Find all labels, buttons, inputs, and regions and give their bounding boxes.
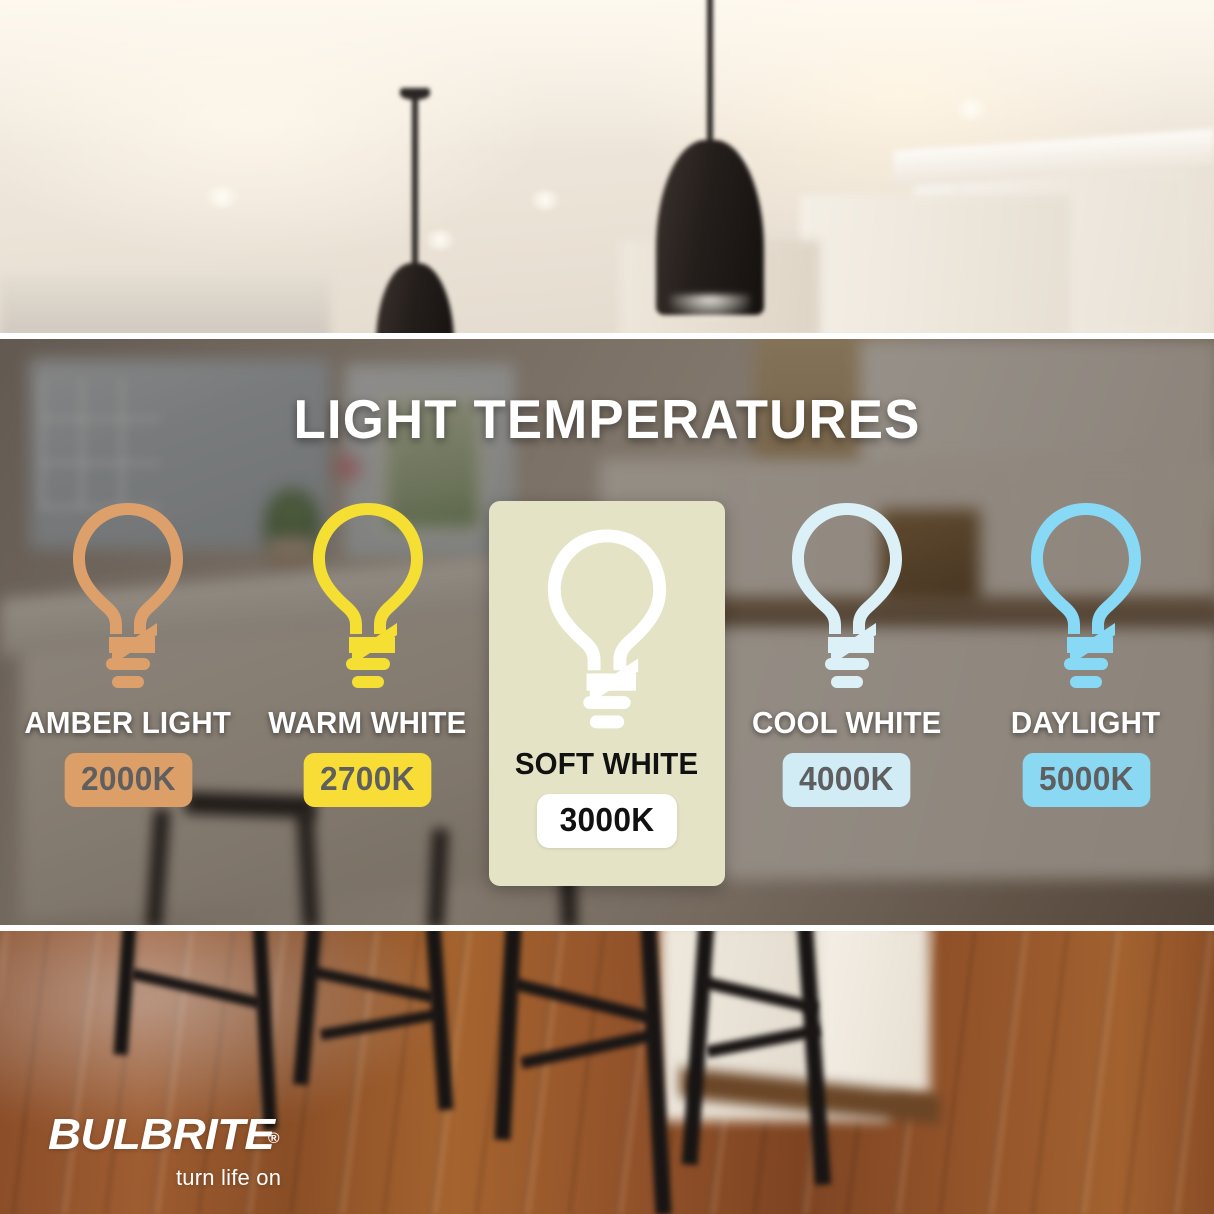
temperature-label: AMBER LIGHT: [25, 705, 232, 741]
infographic-canvas: LIGHT TEMPERATURES: [0, 0, 1214, 1214]
panel-content: LIGHT TEMPERATURES: [0, 339, 1214, 925]
pendant-shade: [376, 263, 454, 338]
bg-cabinet-base-secondary: [820, 931, 930, 1096]
kelvin-badge: 2000K: [64, 753, 191, 807]
kelvin-badge: 3000K: [537, 794, 677, 848]
temperature-card-amber-light[interactable]: AMBER LIGHT 2000K: [10, 479, 246, 889]
lightbulb-icon: [62, 497, 194, 697]
temperature-card-daylight[interactable]: DAYLIGHT 5000K: [968, 479, 1204, 889]
divider-bottom: [0, 925, 1214, 931]
registered-trademark-icon: ®: [268, 1131, 279, 1146]
brand-tagline: turn life on: [176, 1165, 378, 1191]
temperature-card-warm-white[interactable]: WARM WHITE 2700K: [250, 479, 486, 889]
mid-cabinet: [800, 195, 1070, 338]
brand-wordmark: BULBRITE®: [48, 1113, 378, 1157]
lightbulb-icon: [534, 523, 680, 738]
lightbulb-icon: [781, 497, 913, 697]
temperature-label: COOL WHITE: [752, 705, 942, 741]
divider-top: [0, 333, 1214, 339]
lightbulb-icon: [302, 497, 434, 697]
kelvin-badge: 2700K: [304, 753, 431, 807]
kelvin-badge: 5000K: [1022, 753, 1149, 807]
pendant-lamp-left: [350, 48, 480, 338]
temperature-label: WARM WHITE: [268, 705, 466, 741]
brand-logo: BULBRITE® turn life on: [48, 1113, 378, 1191]
temperature-card-cool-white[interactable]: COOL WHITE 4000K: [729, 479, 965, 889]
ceiling-sheen: [0, 0, 1214, 150]
pendant-cord: [412, 96, 418, 271]
left-wall: [0, 275, 330, 338]
temperature-label: DAYLIGHT: [1011, 705, 1160, 741]
middle-panel: LIGHT TEMPERATURES: [0, 339, 1214, 925]
kelvin-badge: 4000K: [783, 753, 910, 807]
pendant-glow: [670, 295, 750, 319]
pendant-shade: [656, 140, 764, 315]
brand-name: BULBRITE: [48, 1113, 274, 1157]
temperature-card-soft-white[interactable]: SOFT WHITE 3000K: [489, 501, 725, 886]
temperature-label: SOFT WHITE: [515, 746, 698, 782]
pendant-lamp-right: [620, 0, 800, 338]
temperature-card-row: AMBER LIGHT 2000K: [0, 479, 1214, 889]
lightbulb-icon: [1020, 497, 1152, 697]
recessed-light-dot: [955, 98, 987, 120]
page-title: LIGHT TEMPERATURES: [24, 387, 1189, 451]
top-photo-band: [0, 0, 1214, 338]
pendant-cord: [707, 0, 713, 145]
recessed-light-dot: [530, 190, 560, 210]
recessed-light-dot: [205, 186, 239, 208]
